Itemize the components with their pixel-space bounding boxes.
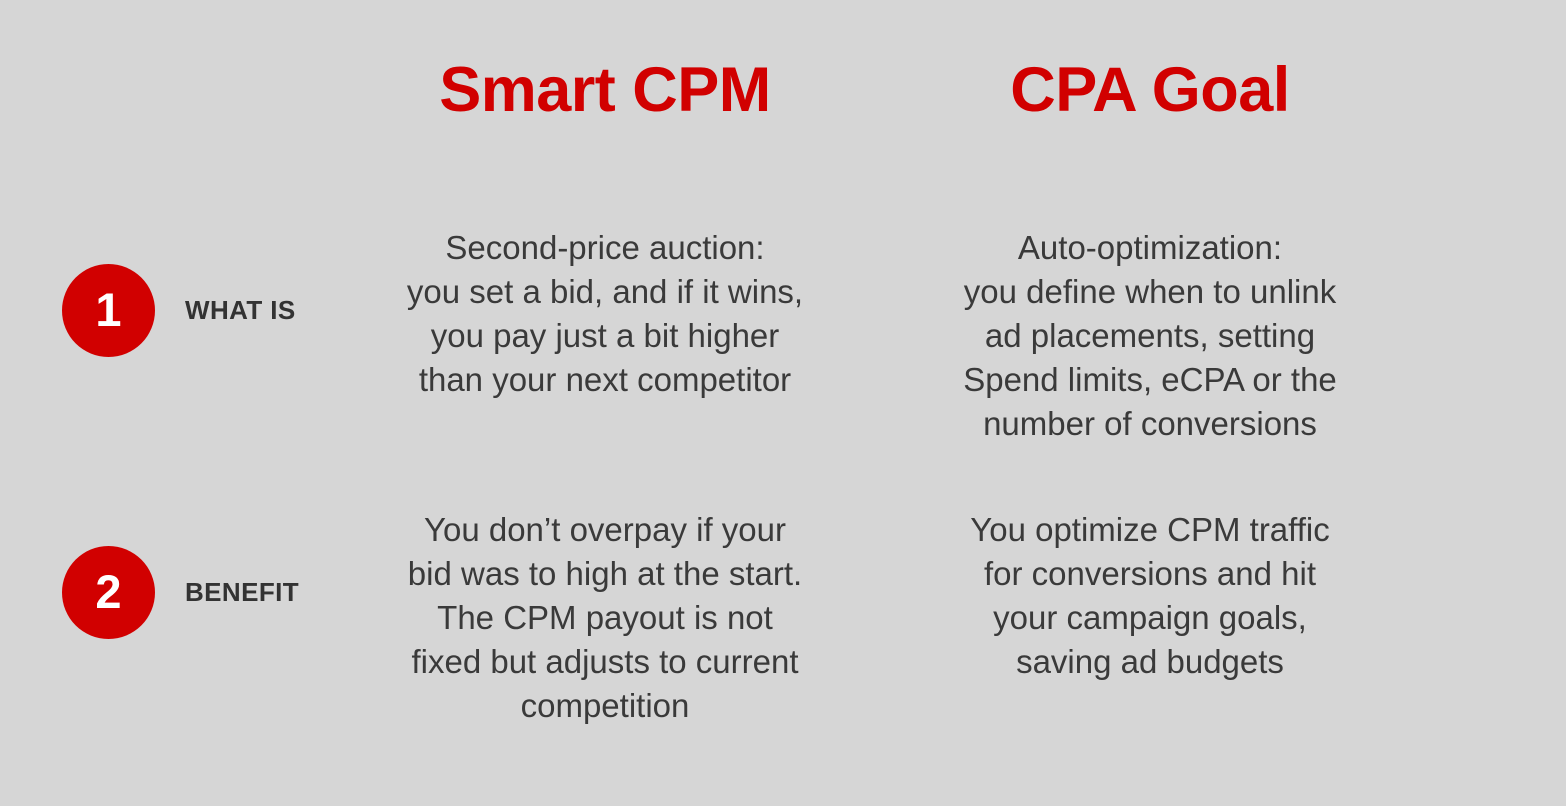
cell-benefit-smart-cpm: You don’t overpay if your bid was to hig… [340,492,870,728]
cell-what-is-smart-cpm: Second-price auction: you set a bid, and… [340,212,870,402]
column-header-row: Smart CPM CPA Goal [0,40,1566,140]
cell-what-is-cpa-goal: Auto-optimization: you define when to un… [870,212,1430,446]
column-title-smart-cpm: Smart CPM [340,57,870,123]
row-label-what-is: WHAT IS [185,295,296,326]
column-header-cpa-goal: CPA Goal [870,57,1430,123]
row-label-benefit: BENEFIT [185,577,299,608]
row-number-badge-2: 2 [62,546,155,639]
comparison-infographic: Smart CPM CPA Goal 1 WHAT IS Second-pric… [0,0,1566,806]
table-row-what-is: 1 WHAT IS Second-price auction: you set … [0,212,1566,446]
table-row-benefit: 2 BENEFIT You don’t overpay if your bid … [0,492,1566,728]
column-title-cpa-goal: CPA Goal [870,57,1430,123]
column-header-smart-cpm: Smart CPM [340,57,870,123]
cell-benefit-cpa-goal: You optimize CPM traffic for conversions… [870,492,1430,684]
row-label-cell-what-is: 1 WHAT IS [0,212,340,408]
row-number-badge-1: 1 [62,264,155,357]
row-label-cell-benefit: 2 BENEFIT [0,492,340,692]
